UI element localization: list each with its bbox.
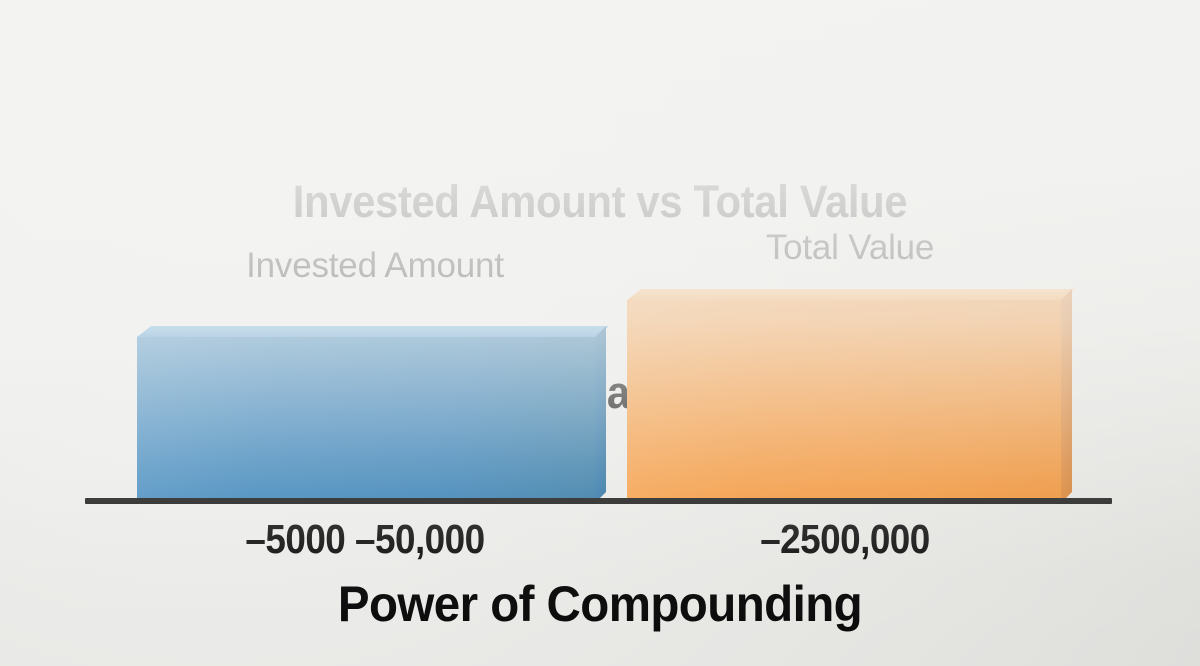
bar-label-total-value: Total Value xyxy=(690,228,1010,268)
bar-total-value-side-face xyxy=(1061,289,1072,503)
bar-invested-amount-side-face xyxy=(595,326,606,503)
x-tick-label-invested-amount: –5000 –50,000 xyxy=(185,516,545,563)
x-axis-line xyxy=(85,498,1112,504)
bar-total-value-front-face xyxy=(627,300,1061,503)
x-tick-label-total-value: –2500,000 xyxy=(661,516,1030,563)
chart-canvas: Invested Amount vs Total Value after 10 … xyxy=(0,0,1200,666)
bar-invested-amount-front-face xyxy=(137,337,595,503)
x-axis-title: Power of Compounding xyxy=(30,575,1170,633)
bar-chart-plot-area: Invested Amount vs Total Value after 10 … xyxy=(0,0,1200,666)
bar-total-value-top-face xyxy=(627,289,1075,300)
bar-total-value xyxy=(627,300,1061,503)
bar-invested-amount xyxy=(137,337,595,503)
bar-invested-amount-top-face xyxy=(137,326,609,337)
chart-title-line-1: Invested Amount vs Total Value xyxy=(42,170,1158,234)
bar-label-invested-amount: Invested Amount xyxy=(195,246,555,286)
